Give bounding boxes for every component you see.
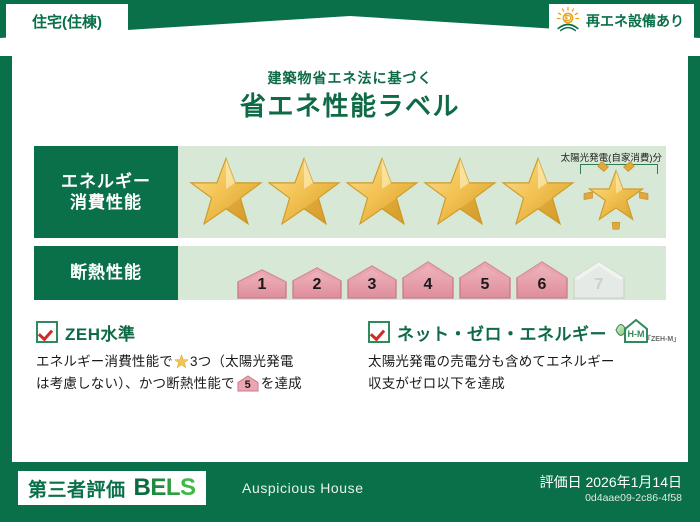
insulation-badge-number: 5 [237, 377, 259, 395]
insulation-level-scale: 1 2 3 [186, 246, 666, 304]
insulation-level-1: 1 [236, 268, 288, 300]
svg-text:H-M: H-M [628, 329, 645, 339]
netzero-feature-description: 太陽光発電の売電分も含めてエネルギー 収支がゼロ以下を達成 [368, 351, 684, 395]
sun-over-horizon-icon [555, 6, 581, 37]
energy-label-line2: 消費性能 [70, 192, 142, 213]
netzero-feature-block: ネット・ゼロ・エネルギー H-M 「ZEH-M」 太陽光発電の売電分も含めてエネ… [368, 320, 684, 395]
insulation-level-5: 5 [458, 260, 512, 300]
insulation-level-7: 7 [572, 260, 626, 300]
renewable-equipment-badge: 再エネ設備あり [549, 4, 694, 38]
bels-letter-e: E [150, 474, 166, 502]
netzero-feature-header: ネット・ゼロ・エネルギー H-M 「ZEH-M」 [368, 320, 684, 344]
star-solar-sparkle [578, 154, 654, 230]
star-filled [500, 154, 576, 230]
insulation-level-number: 4 [424, 276, 433, 300]
insulation-level-6: 6 [515, 260, 569, 300]
building-type-label: 住宅(住棟) [32, 11, 102, 32]
star-rating [182, 146, 666, 238]
page-footer: 第三者評価 BELS Auspicious House 評価日 2026年1月1… [0, 462, 700, 522]
energy-performance-body: 太陽光発電(自家消費)分 [178, 146, 666, 238]
checkmark-icon [36, 321, 58, 343]
insulation-performance-row: 断熱性能 1 [34, 246, 666, 300]
insulation-level-2: 2 [291, 266, 343, 300]
zeh-desc-part2: は考慮しない）、かつ断熱性能で [36, 376, 235, 391]
zeh-feature-block: ZEH水準 エネルギー消費性能で3つ（太陽光発電 は考慮しない）、かつ断熱性能で… [36, 320, 352, 395]
bels-letter-s: S [180, 474, 196, 502]
insulation-performance-label: 断熱性能 [34, 246, 178, 300]
netzero-desc-line2: 収支がゼロ以下を達成 [368, 376, 505, 391]
third-party-evaluation-label: 第三者評価 [28, 475, 126, 502]
bels-letter-l: L [166, 474, 180, 502]
insulation-level-3: 3 [346, 264, 398, 300]
star-filled [344, 154, 420, 230]
zeh-desc-part3: を達成 [261, 376, 302, 391]
label-subtitle: 建築物省エネ法に基づく [12, 68, 688, 88]
zeh-m-logo-caption: 「ZEH-M」 [644, 334, 680, 344]
zeh-feature-description: エネルギー消費性能で3つ（太陽光発電 は考慮しない）、かつ断熱性能で5を達成 [36, 351, 352, 395]
insulation-level-number: 5 [481, 276, 490, 300]
netzero-feature-title: ネット・ゼロ・エネルギー [397, 320, 607, 345]
zeh-feature-header: ZEH水準 [36, 320, 352, 344]
star-filled [422, 154, 498, 230]
bels-letter-b: B [134, 474, 151, 502]
renewable-badge-label: 再エネ設備あり [586, 11, 684, 31]
energy-label-line1: エネルギー [61, 171, 151, 192]
star-filled [188, 154, 264, 230]
insulation-performance-body: 1 2 3 [178, 246, 666, 300]
company-name: Auspicious House [242, 480, 364, 496]
energy-performance-label: エネルギー 消費性能 [34, 146, 178, 238]
netzero-desc-line1: 太陽光発電の売電分も含めてエネルギー [368, 354, 615, 369]
evaluation-id: 0d4aae09-2c86-4f58 [585, 492, 682, 504]
insulation-level-4: 4 [401, 260, 455, 300]
insulation-level-number: 3 [368, 276, 377, 300]
insulation-level-number: 1 [258, 276, 267, 300]
checkmark-icon [368, 321, 390, 343]
label-card: 建築物省エネ法に基づく 省エネ性能ラベル エネルギー 消費性能 太陽光発電(自家… [12, 34, 688, 462]
zeh-m-logo-icon: H-M 「ZEH-M」 [612, 317, 658, 347]
label-title: 省エネ性能ラベル [12, 86, 688, 123]
insulation-level-number: 2 [313, 276, 322, 300]
zeh-desc-stars: 3つ（太陽光発電 [190, 354, 294, 369]
insulation-label-text: 断熱性能 [70, 262, 142, 283]
star-icon-inline [174, 354, 189, 369]
insulation-level-number: 7 [595, 276, 604, 300]
energy-performance-row: エネルギー 消費性能 太陽光発電(自家消費)分 [34, 146, 666, 238]
insulation-badge-icon: 5 [237, 375, 259, 392]
insulation-level-number: 6 [538, 276, 547, 300]
bels-certification-badge: 第三者評価 BELS [18, 471, 206, 505]
evaluation-date: 評価日 2026年1月14日 [540, 472, 682, 492]
zeh-feature-title: ZEH水準 [65, 320, 136, 345]
star-filled [266, 154, 342, 230]
building-type-badge: 住宅(住棟) [6, 4, 128, 38]
bels-logo: BELS [134, 474, 196, 502]
zeh-desc-part1: エネルギー消費性能で [36, 354, 173, 369]
